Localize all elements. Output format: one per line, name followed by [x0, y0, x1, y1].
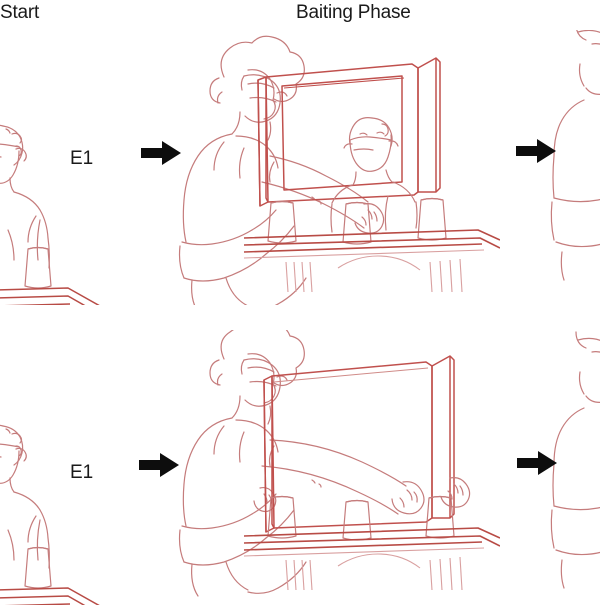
screen-window-opening — [282, 76, 402, 190]
cup-2 — [343, 501, 371, 541]
arrow-right-top-2 — [515, 138, 557, 164]
baiting-scene-opaque-drawing — [178, 330, 500, 605]
arrow-right-bottom-2 — [516, 450, 558, 476]
label-experimenter-top: E1 — [70, 148, 93, 170]
label-experimenter-bottom: E1 — [70, 462, 93, 484]
end-scene-drawing-top — [548, 30, 600, 305]
panel-baiting-window — [178, 30, 500, 305]
screen-front-opaque — [272, 362, 432, 528]
cup-3 — [418, 199, 446, 241]
panel-baiting-opaque — [178, 330, 500, 605]
baiting-scene-window-drawing — [178, 30, 500, 305]
panel-end-top — [548, 30, 600, 305]
arrow-right-bottom-1 — [138, 452, 180, 478]
experiment-figure: Start Baiting Phase — [0, 0, 600, 600]
arrow-right-top-1 — [140, 140, 182, 166]
column-header-baiting-phase: Baiting Phase — [296, 2, 411, 24]
column-header-start: Start — [0, 2, 39, 24]
